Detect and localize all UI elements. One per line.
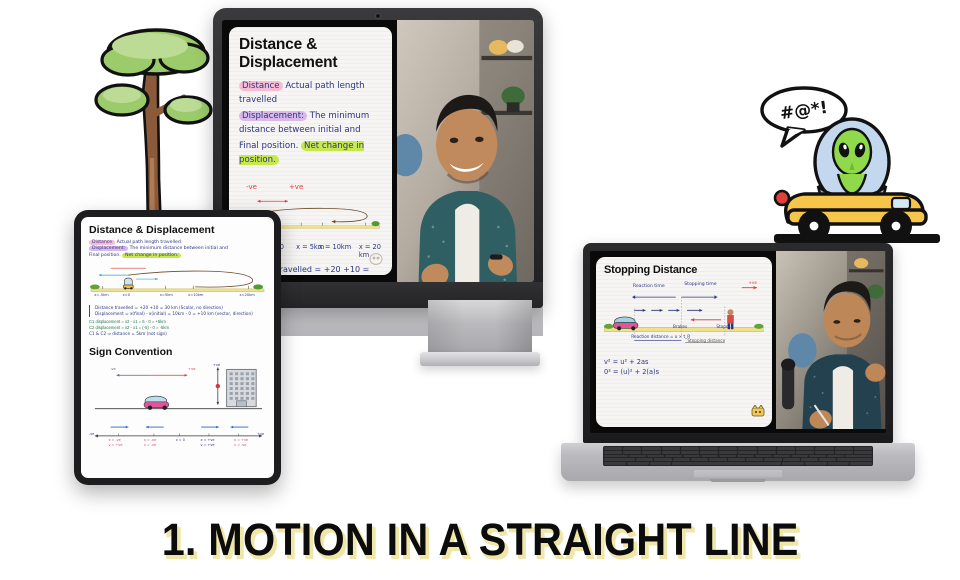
tablet-tick-0: x=-5km (94, 293, 108, 297)
tablet-displacement-line2: Final position. Net change in position. (89, 253, 266, 259)
alien-in-car-illustration: #@*! (752, 82, 952, 250)
laptop-video-pane (776, 251, 886, 433)
tablet-slide1-title: Distance & Displacement (89, 224, 266, 236)
vel-label-4-v: v = -ve (234, 443, 246, 448)
stopping-time-label: Stopping time (684, 282, 716, 287)
vel-label-4-x: x = +ve (234, 438, 248, 443)
reaction-time-label: Reaction time (633, 284, 665, 289)
tree-icon (88, 18, 228, 233)
tablet-displacement-label: Displacement: (89, 246, 128, 251)
distance-label: Distance (239, 81, 283, 91)
building-axis-top-label: +ve (213, 363, 220, 367)
tablet-equation-4: C1 & C2 ⇒ distance = 5km (not sign) (89, 331, 266, 337)
stopping-distance-svg (604, 280, 764, 352)
tablet-distance-text: Actual path length travelled (117, 240, 181, 245)
tablet-tick-4: x=20km (239, 293, 254, 297)
reaction-distance-label: Reaction distance = u × t_R (631, 334, 695, 340)
stops-label: Stops (716, 324, 728, 329)
tick-label-3: x = 10km (319, 243, 351, 251)
displacement-label: Displacement: (239, 111, 307, 121)
owl-doodle-icon (368, 251, 384, 270)
tablet-equation-1: Displacement = x(final) - x(initial) = 1… (95, 311, 266, 317)
tablet-distance-label: Distance (89, 240, 115, 245)
stopping-distance-label: Stopping distance (687, 338, 735, 343)
tablet-slide-sign-convention: Sign Convention (89, 346, 266, 462)
slide-title: Distance & Displacement (239, 36, 382, 72)
tablet-final-position-text: Final position. (89, 253, 121, 258)
laptop-trackpad[interactable] (693, 469, 783, 478)
tablet-slide-distance: Distance & Displacement Distance Actual … (89, 224, 266, 337)
stopping-distance-slide: Stopping Distance (596, 257, 772, 427)
monitor-stand-foot (420, 352, 540, 366)
laptop-screen[interactable]: Stopping Distance (590, 251, 886, 433)
slide-line-distance: Distance Actual path length travelled (239, 79, 382, 107)
vel-label-0-x: x = -ve (108, 438, 120, 443)
laptop-base (561, 443, 915, 481)
slide-line-displacement-cont: Final position. Net change in position. (239, 139, 382, 167)
slide-line-displacement: Displacement: The minimum distance betwe… (239, 109, 382, 137)
pos-ve-label: +ve (289, 183, 303, 191)
monitor-stand-neck-shading (428, 300, 532, 354)
brakes-label: Brakes (673, 324, 687, 329)
vel-label-3-v: v = +ve (201, 443, 215, 448)
tree-illustration (88, 18, 228, 233)
laptop: Stopping Distance (583, 243, 893, 443)
poster-canvas: Distance & Displacement Distance Actual … (0, 0, 960, 580)
laptop-pos-ve-label: +ve (748, 280, 757, 285)
sign-pos-label: +ve (188, 367, 195, 371)
cat-doodle-icon (751, 404, 765, 422)
laptop-front-notch (710, 479, 766, 482)
vel-label-0-v: v = +ve (108, 443, 122, 448)
instructor-video-feed-writing (776, 251, 886, 429)
tablet-tick-2: x=5km (160, 293, 173, 297)
laptop-equation-2: 0² = (u)² + 2(a)s (604, 367, 764, 377)
final-position-text: Final position. (239, 141, 298, 151)
tablet: Distance & Displacement Distance Actual … (74, 210, 281, 485)
tablet-slide2-title: Sign Convention (89, 346, 266, 358)
title-area: 1. MOTION IN A STRAIGHT LINE (0, 514, 960, 566)
page-title: 1. MOTION IN A STRAIGHT LINE (162, 514, 799, 566)
axis-neg-end: -ve (89, 432, 94, 437)
tablet-displacement-text: The minimum distance between initial and (130, 246, 228, 251)
vel-label-2-x: x = 0 (176, 438, 185, 443)
laptop-slide-pane: Stopping Distance (590, 251, 776, 433)
instructor-video-feed (397, 20, 534, 282)
vel-label-3-x: x = +ve (201, 438, 215, 443)
axis-pos-end: +ve (257, 432, 264, 437)
velocity-sign-line: -ve +ve x = -ve v = +ve x = -ve v = -ve … (89, 422, 266, 462)
sign-neg-label: -ve (110, 367, 116, 371)
laptop-keyboard[interactable] (603, 446, 873, 466)
tablet-net-change-text: Net change in position. (122, 253, 181, 258)
webcam-icon (376, 14, 380, 18)
laptop-equation-1: v² = u² + 2as (604, 357, 764, 367)
tablet-tick-3: x=10km (188, 293, 203, 297)
alien-car-icon: #@*! (752, 82, 952, 250)
monitor-video-pane (397, 20, 534, 282)
tablet-screen[interactable]: Distance & Displacement Distance Actual … (81, 217, 274, 478)
tablet-tick-1: x=0 (123, 293, 130, 297)
vel-label-1-x: x = -ve (144, 438, 156, 443)
stopping-distance-diagram: Reaction time Stopping time Reaction dis… (604, 280, 764, 352)
vel-label-1-v: v = -ve (144, 443, 156, 448)
neg-ve-label: -ve (246, 183, 257, 191)
sign-convention-diagram: -ve +ve +ve (89, 361, 266, 419)
tablet-number-line-diagram: x=-5km x=0 x=5km x=10km x=20km (89, 263, 266, 299)
laptop-slide-title: Stopping Distance (604, 264, 764, 276)
